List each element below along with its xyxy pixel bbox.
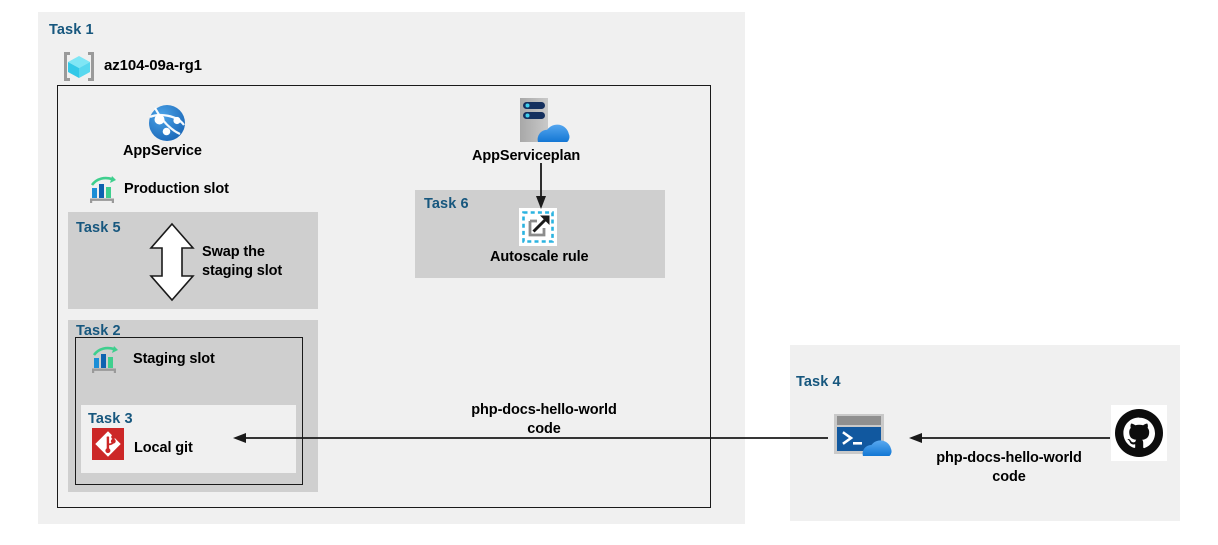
task4-edge-label-line1: php-docs-hello-world bbox=[909, 449, 1109, 469]
git-icon bbox=[92, 428, 124, 460]
app-service-icon bbox=[147, 103, 187, 143]
center-edge-label-line1: php-docs-hello-world bbox=[444, 401, 644, 421]
local-git-label: Local git bbox=[134, 440, 193, 456]
cloud-shell-icon bbox=[832, 412, 900, 460]
task5-label: Task 5 bbox=[76, 220, 121, 236]
task3-label: Task 3 bbox=[88, 411, 133, 427]
task1-label: Task 1 bbox=[49, 22, 94, 38]
deployment-slot-icon-production bbox=[88, 176, 118, 204]
resource-group-icon bbox=[60, 49, 98, 84]
resource-group-name: az104-09a-rg1 bbox=[104, 57, 202, 74]
autoscale-rule-label: Autoscale rule bbox=[490, 249, 589, 265]
production-slot-label: Production slot bbox=[124, 181, 229, 197]
app-service-plan-icon bbox=[512, 96, 572, 148]
github-icon bbox=[1111, 405, 1167, 461]
task4-label: Task 4 bbox=[796, 374, 841, 390]
swap-double-arrow-icon bbox=[147, 222, 197, 302]
app-service-label: AppService bbox=[123, 143, 202, 159]
task5-action-line1: Swap the bbox=[202, 243, 322, 263]
task4-edge-label-line2: code bbox=[909, 468, 1109, 488]
center-edge-label-line2: code bbox=[444, 420, 644, 440]
app-service-plan-label: AppServiceplan bbox=[472, 148, 580, 164]
deployment-slot-icon-staging bbox=[90, 346, 120, 374]
task5-action-line2: staging slot bbox=[202, 262, 332, 282]
staging-slot-label: Staging slot bbox=[133, 351, 215, 367]
diagram-canvas: Task 1 az104-09a-rg1 bbox=[0, 0, 1218, 545]
autoscale-icon bbox=[519, 208, 557, 246]
task6-label: Task 6 bbox=[424, 196, 469, 212]
